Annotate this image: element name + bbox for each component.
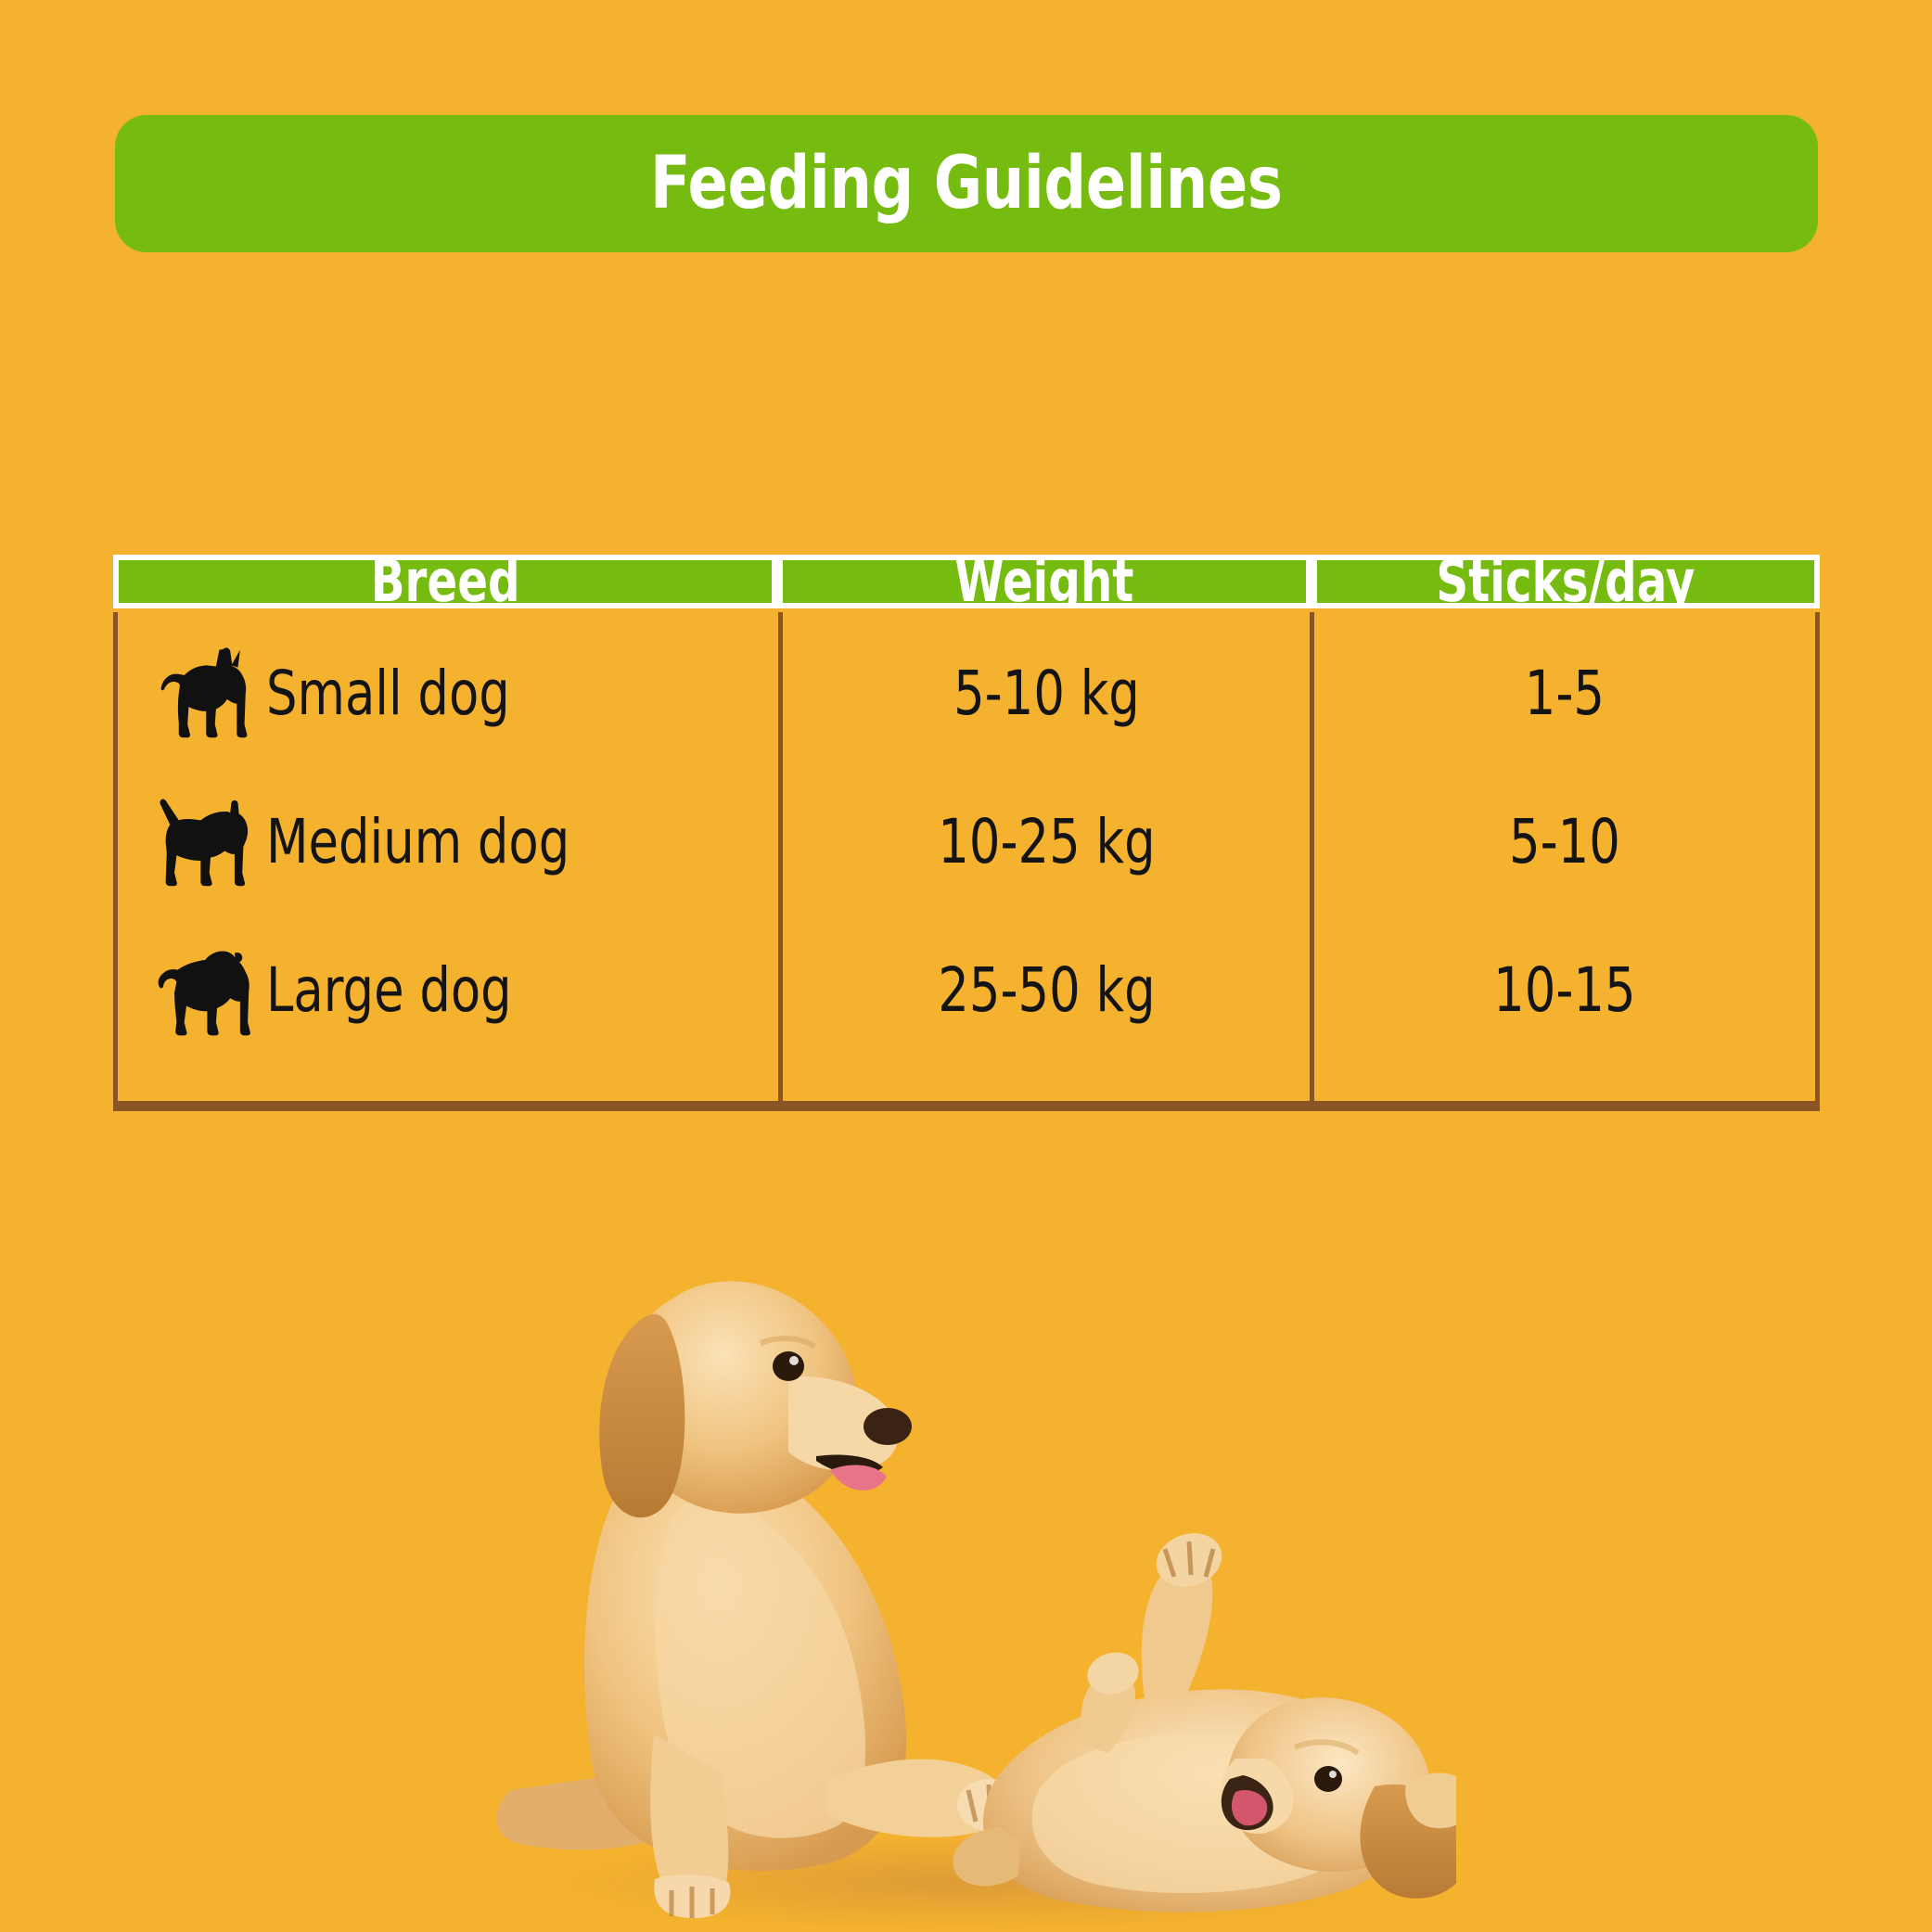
table-cell-sticks: 10-15: [1493, 960, 1635, 1021]
table-cell-sticks: 1-5: [1525, 663, 1605, 724]
table-header-sticks: Sticks/day: [1311, 555, 1820, 608]
table-header-breed: Breed: [113, 555, 777, 608]
table-cell-weight: 10-25 kg: [938, 812, 1155, 873]
table-header-weight-label: Weight: [954, 555, 1133, 608]
puppy-photo: [482, 1178, 1456, 1932]
table-row: 25-50 kg: [783, 916, 1310, 1065]
table-row: 10-15: [1314, 916, 1815, 1065]
table-row: 5-10: [1314, 768, 1815, 916]
table-header-sticks-label: Sticks/day: [1436, 555, 1695, 608]
medium-dog-icon: [144, 787, 253, 897]
table-row: 1-5: [1314, 620, 1815, 768]
table-cell-breed: Large dog: [266, 960, 512, 1021]
table-column-weight: 5-10 kg 10-25 kg 25-50 kg: [778, 612, 1310, 1101]
table-body: Small dog Medium dog: [113, 612, 1820, 1111]
table-row: 5-10 kg: [783, 620, 1310, 768]
table-column-sticks: 1-5 5-10 10-15: [1310, 612, 1815, 1101]
table-cell-breed: Small dog: [266, 663, 510, 724]
feeding-guidelines-table: Breed Weight Sticks/day: [113, 555, 1820, 1111]
table-cell-sticks: 5-10: [1509, 812, 1620, 873]
page-title: Feeding Guidelines: [650, 147, 1283, 220]
feeding-guidelines-page: Feeding Guidelines Breed Weight Sticks/d…: [0, 0, 1932, 1932]
table-header-weight: Weight: [777, 555, 1311, 608]
table-column-breed: Small dog Medium dog: [118, 612, 778, 1101]
table-row: Large dog: [118, 916, 778, 1065]
large-dog-icon: [144, 936, 253, 1045]
small-dog-icon: [144, 639, 253, 748]
title-banner: Feeding Guidelines: [115, 115, 1818, 252]
table-row: Medium dog: [118, 768, 778, 916]
table-header-breed-label: Breed: [371, 555, 520, 608]
table-row: Small dog: [118, 620, 778, 768]
table-row: 10-25 kg: [783, 768, 1310, 916]
table-header-row: Breed Weight Sticks/day: [113, 555, 1820, 608]
table-cell-breed: Medium dog: [266, 812, 569, 873]
table-cell-weight: 25-50 kg: [938, 960, 1155, 1021]
table-cell-weight: 5-10 kg: [953, 663, 1140, 724]
